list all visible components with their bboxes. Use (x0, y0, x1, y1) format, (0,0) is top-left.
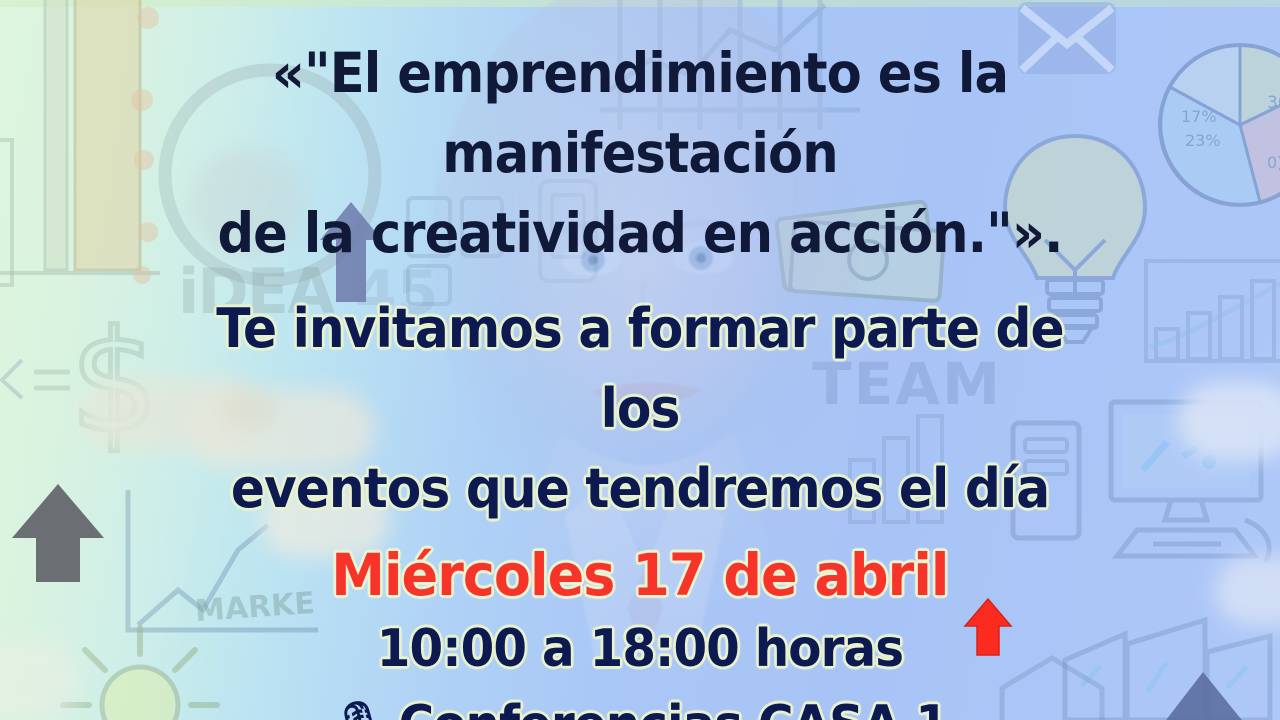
event-poster: $ MARKE (0, 0, 1280, 720)
microphone-icon: 🎙 (332, 702, 385, 720)
poster-text-content: «"El emprendimiento es la manifestación … (0, 0, 1280, 720)
invitation-text: Te invitamos a formar parte de los event… (198, 289, 1082, 529)
quote-text: «"El emprendimiento es la manifestación … (156, 34, 1123, 273)
event-date: Miércoles 17 de abril (331, 541, 948, 609)
venue-line: 🎙 Conferencias CASA 1 (332, 695, 948, 720)
invite-line-2: eventos que tendremos el día (198, 449, 1082, 529)
venue-label: Conferencias CASA 1 (398, 695, 948, 720)
event-time: 10:00 a 18:00 horas (377, 619, 903, 679)
quote-line-1: «"El emprendimiento es la manifestación (156, 34, 1123, 194)
quote-line-2: de la creatividad en acción."». (156, 194, 1123, 274)
invite-line-1: Te invitamos a formar parte de los (198, 289, 1082, 449)
event-time-line: 10:00 a 18:00 horas (377, 619, 903, 679)
